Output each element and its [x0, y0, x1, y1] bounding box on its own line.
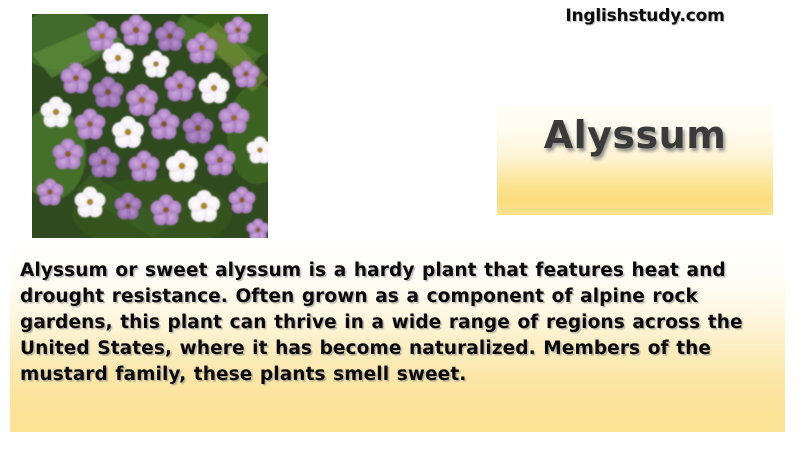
- alyssum-flowers-photo: [32, 14, 268, 238]
- description-text: Alyssum or sweet alyssum is a hardy plan…: [20, 258, 772, 388]
- page-title: Alyssum: [497, 113, 773, 157]
- flashcard-page: Inglishstudy.com: [0, 0, 800, 450]
- alyssum-photo-illustration: [32, 14, 268, 238]
- site-brand-label: Inglishstudy.com: [500, 6, 790, 26]
